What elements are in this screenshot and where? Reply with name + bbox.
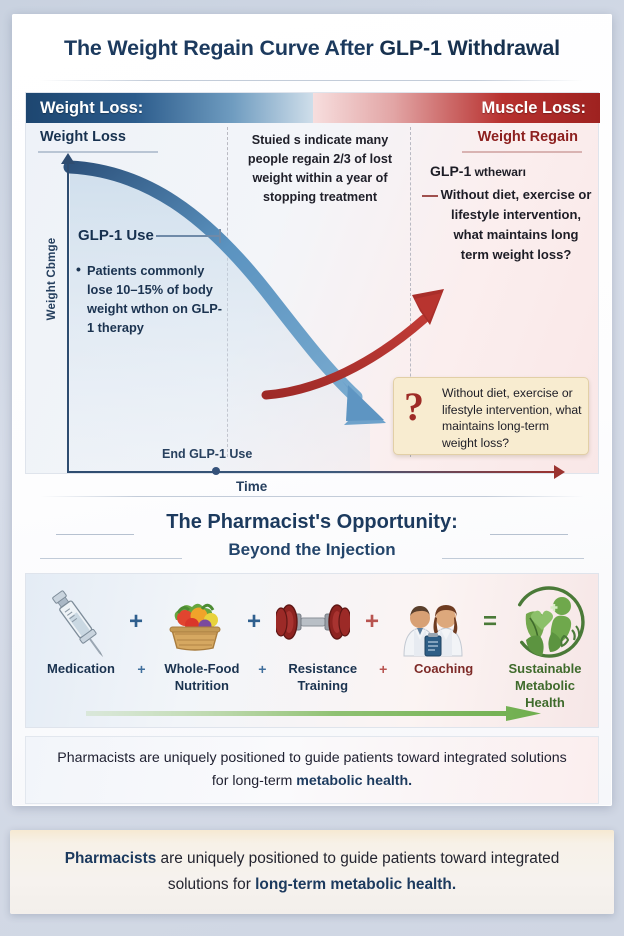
formula-label-coaching: Coaching (399, 660, 489, 677)
section-title-rule-right (490, 534, 568, 535)
question-callout: ? Without diet, exercise or lifestyle in… (393, 377, 589, 455)
chart-body: Weight Loss Weight Regain (26, 123, 600, 475)
formula-operator-3: + (365, 608, 379, 636)
formula-label-operator-2: + (258, 660, 266, 677)
formula-operator-2: + (247, 608, 261, 636)
x-axis-arrow-icon (554, 465, 565, 479)
list-item: Patients commonly lose 10–15% of body we… (76, 261, 228, 337)
formula-label-resistance-training: Resistance Training (278, 660, 368, 694)
metabolic-health-icon (512, 580, 586, 664)
section-divider (40, 496, 584, 497)
title-divider (40, 80, 584, 81)
formula-label-operator-1: + (137, 660, 145, 677)
y-axis-line (67, 161, 69, 473)
glp1-withdrawal-label: GLP-1 wthewarı (430, 163, 580, 179)
glp1-use-bullets: Patients commonly lose 10–15% of body we… (76, 261, 228, 337)
y-axis-label: Weight Cbmge (46, 231, 58, 327)
pharmacist-coaching-icon (394, 580, 468, 664)
formula-label-operator-3: + (379, 660, 387, 677)
x-axis-line (67, 471, 556, 473)
formula-icon-row: + (26, 578, 600, 666)
glp1-withdrawal-small: wthewarı (471, 165, 526, 179)
glp1-use-leader-tick (219, 229, 221, 243)
syringe-icon (40, 580, 114, 664)
page-title: The Weight Regain Curve After GLP-1 With… (12, 36, 612, 61)
main-card: The Weight Regain Curve After GLP-1 With… (12, 14, 612, 806)
page-title-lead: The Weight Regain Curve After (64, 36, 379, 60)
right-column-body: Without diet, exercise or lifestyle inte… (422, 185, 592, 265)
section-subtitle-rule-left (40, 558, 182, 559)
section-subtitle: Beyond the Injection (12, 540, 612, 560)
fruit-basket-icon (158, 580, 232, 664)
end-glp1-marker-dot (212, 467, 220, 475)
chart-header-row: Weight Loss: Muscle Loss: (26, 93, 600, 123)
regain-statistic-text: Stuied s indicate many people regain 2/3… (232, 131, 408, 207)
formula-label-row: Medication + Whole-Food Nutrition + Resi… (26, 660, 600, 710)
chart-header-weight-loss: Weight Loss: (26, 93, 313, 123)
pharmacist-note: Pharmacists are uniquely positioned to g… (25, 736, 599, 804)
question-callout-text: Without diet, exercise or lifestyle inte… (442, 385, 584, 451)
section-title: The Pharmacist's Opportunity: (12, 511, 612, 534)
section-title-rule-left (56, 534, 134, 535)
formula-label-sustainable-metabolic-health: Sustainable Metabolic Health (500, 660, 590, 711)
footer-banner: Pharmacists are uniquely positioned to g… (10, 830, 614, 914)
glp1-use-leader-line (156, 235, 220, 237)
infographic-page: The Weight Regain Curve After GLP-1 With… (0, 0, 624, 936)
x-axis-label: Time (236, 479, 267, 494)
pharmacist-note-bold: metabolic health. (296, 773, 412, 789)
formula-operator-1: + (129, 608, 143, 636)
glp1-use-label: GLP-1 Use (78, 227, 154, 244)
chart-header-muscle-loss: Muscle Loss: (313, 93, 600, 123)
end-glp1-marker-label: End GLP-1 Use (162, 447, 252, 461)
footer-bold-lead: Pharmacists (65, 850, 157, 867)
section-subtitle-rule-right (442, 558, 584, 559)
pharmacist-formula-panel: + (25, 573, 599, 728)
bullet-bold: 10–15% (116, 282, 163, 297)
dumbbell-icon (276, 580, 350, 664)
progress-arrow-icon (86, 706, 541, 721)
question-mark-icon: ? (404, 387, 424, 427)
glp1-withdrawal-bold: GLP-1 (430, 163, 471, 179)
page-title-bold: GLP-1 Withdrawal (379, 36, 560, 60)
y-axis-arrow-icon (61, 153, 75, 164)
formula-operator-4: = (483, 608, 497, 636)
formula-label-medication: Medication (36, 660, 126, 677)
formula-label-nutrition: Whole-Food Nutrition (157, 660, 247, 694)
footer-bold-tail: long-term metabolic health. (255, 876, 456, 893)
weight-regain-chart-panel: Weight Loss: Muscle Loss: Weight Loss We… (25, 92, 599, 474)
